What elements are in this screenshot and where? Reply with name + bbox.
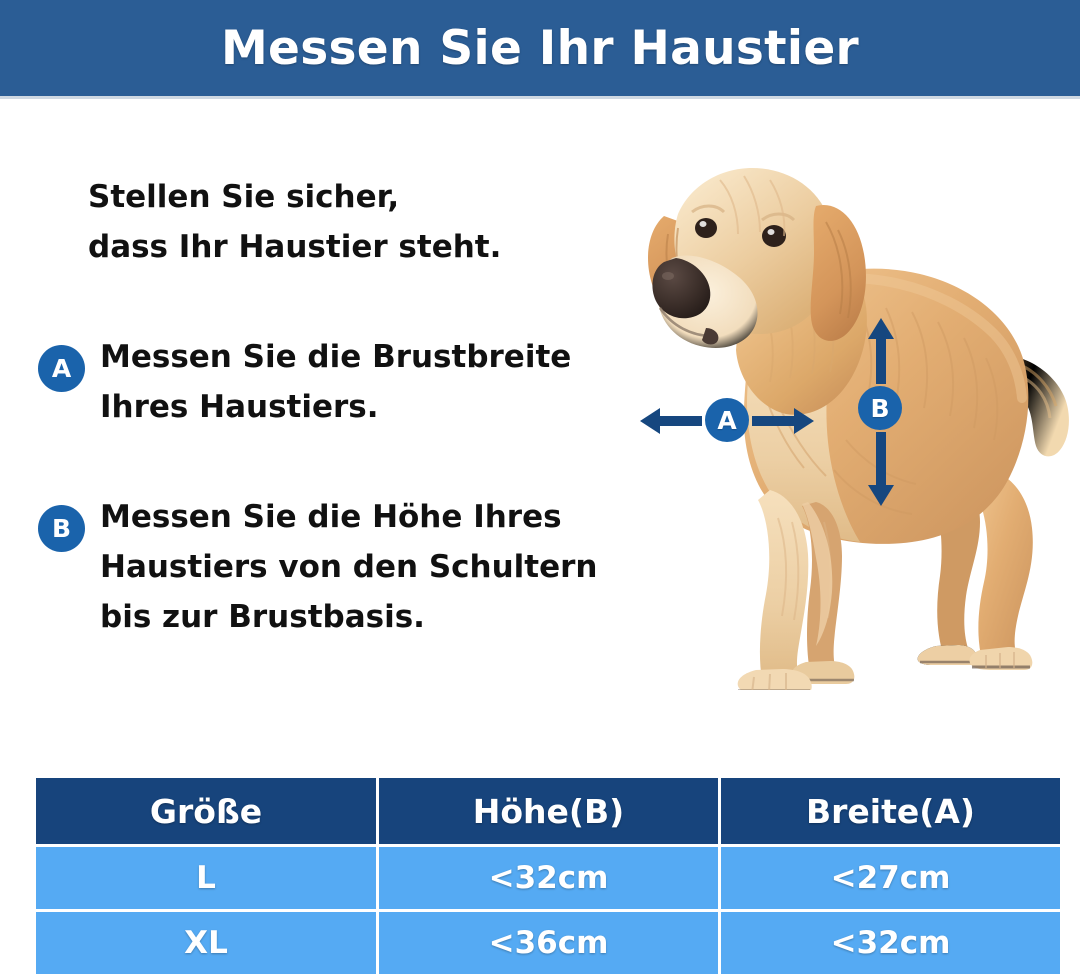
arrow-left-icon [640,404,702,438]
measure-badge-b: B [858,386,902,430]
table-header-row: Größe Höhe(B) Breite(A) [36,778,1060,844]
dog-paw-front-near [738,669,812,690]
instruction-b-line-2: Haustiers von den Schultern [100,542,638,592]
instruction-a-text: Messen Sie die Brustbreite Ihres Haustie… [100,332,638,432]
cell-height: <36cm [379,912,718,974]
column-header-size: Größe [36,778,376,844]
page-title: Messen Sie Ihr Haustier [0,0,1080,96]
instruction-b-line-3: bis zur Brustbasis. [100,592,638,642]
instruction-b-line-1: Messen Sie die Höhe Ihres [100,492,638,542]
arrow-down-icon [864,432,898,506]
intro-line-1: Stellen Sie sicher, [88,172,633,222]
cell-size: L [36,847,376,909]
measure-badge-a: A [705,398,749,442]
instruction-a-line-2: Ihres Haustiers. [100,382,638,432]
column-header-width: Breite(A) [721,778,1060,844]
instruction-a-line-1: Messen Sie die Brustbreite [100,332,638,382]
cell-width: <32cm [721,912,1060,974]
dog-eye-near [762,225,786,247]
bullet-badge-b: B [38,505,85,552]
table-row: XL <36cm <32cm [36,912,1060,974]
dog-eye-far [695,218,717,238]
instruction-a: A Messen Sie die Brustbreite Ihres Haust… [38,332,638,432]
header-divider [0,96,1080,99]
cell-width: <27cm [721,847,1060,909]
instruction-b-text: Messen Sie die Höhe Ihres Haustiers von … [100,492,638,643]
size-chart-table: Größe Höhe(B) Breite(A) L <32cm <27cm XL… [33,775,1063,977]
intro-line-2: dass Ihr Haustier steht. [88,222,633,272]
table-row: L <32cm <27cm [36,847,1060,909]
arrow-up-icon [864,318,898,384]
bullet-badge-a: A [38,345,85,392]
cell-size: XL [36,912,376,974]
cell-height: <32cm [379,847,718,909]
column-header-height: Höhe(B) [379,778,718,844]
instruction-b: B Messen Sie die Höhe Ihres Haustiers vo… [38,492,638,643]
arrow-right-icon [752,404,814,438]
intro-text: Stellen Sie sicher, dass Ihr Haustier st… [88,172,633,272]
